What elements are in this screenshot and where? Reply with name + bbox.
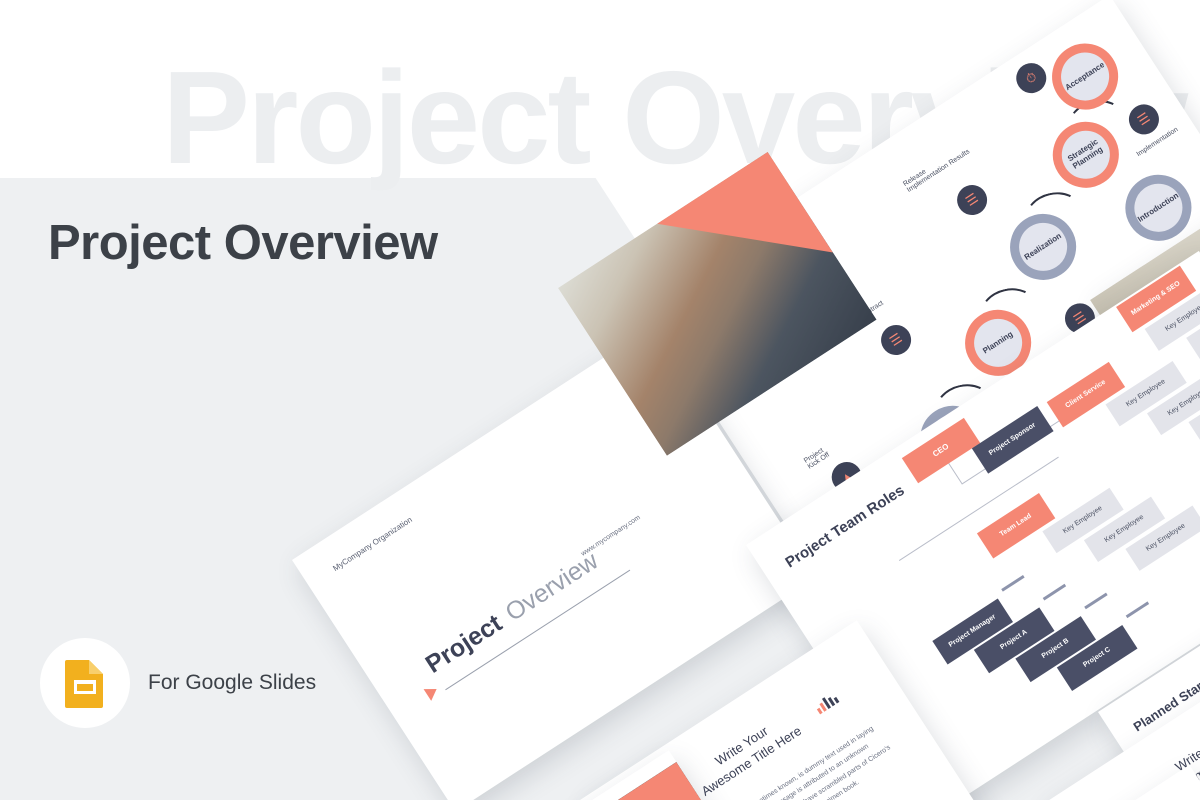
milestone-label: Project Kick Off [803, 446, 831, 471]
org-label: Client Service [1065, 379, 1108, 410]
organization-label: MyCompany Organization [331, 515, 413, 573]
title-bold: Project [421, 609, 507, 679]
badge-circle [40, 638, 130, 728]
document-icon: ☰ [875, 319, 916, 360]
org-arrow [1001, 575, 1024, 592]
org-label: Project Sponsor [988, 422, 1037, 458]
milestone-label: Discharge of Project Team [981, 40, 1023, 74]
title-light: Overview [501, 547, 604, 627]
org-box-sponsor[interactable]: Project Sponsor [972, 406, 1054, 474]
document-icon: ☰ [951, 179, 992, 220]
org-label: Project C [1082, 647, 1112, 670]
org-arrow [1084, 593, 1107, 610]
phase-label: Realization [1023, 232, 1063, 262]
org-label: Project B [1041, 638, 1071, 661]
org-arrow [1043, 584, 1066, 601]
presentation-preview: Project Overview Project Phases Initiati… [0, 0, 1200, 800]
org-label: Project A [999, 629, 1029, 652]
phase-label: Acceptance [1064, 61, 1106, 93]
phase-label: Planning [982, 330, 1015, 356]
org-arrow [1126, 601, 1149, 618]
badge-label: For Google Slides [148, 671, 316, 695]
website-label: www.mycompany.com [580, 514, 642, 558]
clock-icon: ⏱ [1011, 57, 1052, 98]
org-label: CEO [931, 442, 950, 458]
page-title: Project Overview [48, 215, 438, 271]
google-slides-icon [63, 658, 107, 708]
phase-label: Introduction [1136, 191, 1180, 224]
org-connector [947, 461, 962, 483]
org-label: Team Lead [999, 513, 1033, 539]
phase-label: Strategic Planning [1067, 138, 1105, 171]
milestone-label: Release Implementation Results [902, 142, 971, 194]
google-slides-badge: For Google Slides [40, 638, 316, 728]
coral-triangle-marker [424, 683, 441, 701]
document-icon: ☰ [1123, 99, 1164, 140]
